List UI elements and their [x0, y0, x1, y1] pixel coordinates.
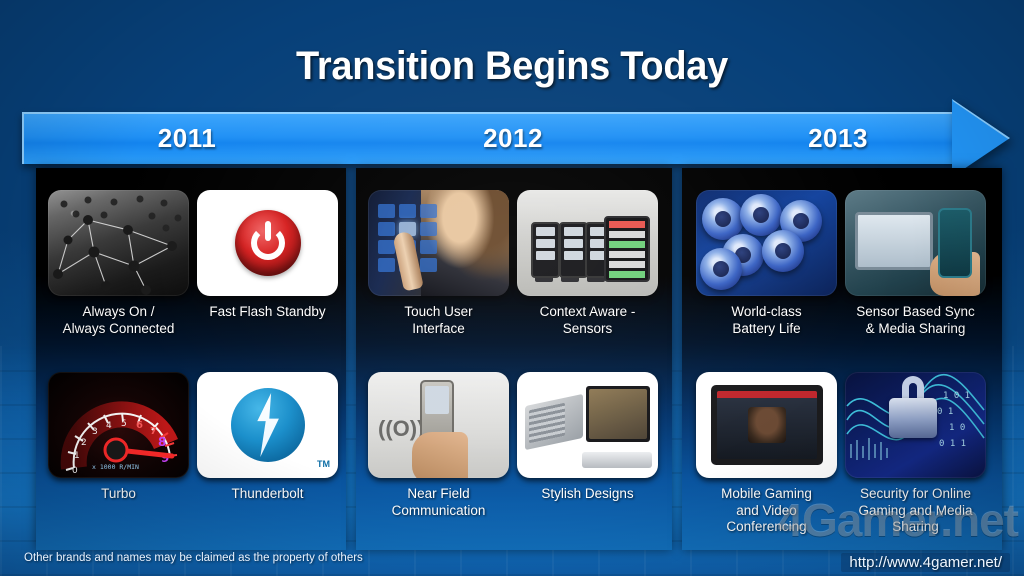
sensor-sync-icon	[845, 190, 986, 296]
network-mesh-icon	[48, 190, 189, 296]
feature-tile[interactable]: 012 345 67 89 x 1000 R/MIN Turbo	[48, 372, 189, 503]
laptop-tablet-icon	[517, 372, 658, 478]
laptop-graphic	[525, 394, 583, 450]
timeline-year-2013: 2013	[778, 123, 898, 154]
feature-caption: Always On /Always Connected	[48, 304, 189, 337]
feature-caption: Fast Flash Standby	[197, 304, 338, 321]
feature-tile[interactable]: Sensor Based Sync& Media Sharing	[845, 190, 986, 337]
svg-text:3: 3	[92, 427, 98, 437]
svg-text:0 1 1: 0 1 1	[939, 439, 966, 449]
thunderbolt-logo-icon: TM	[197, 372, 338, 478]
svg-text:6: 6	[136, 420, 143, 431]
svg-text:4: 4	[106, 421, 112, 431]
feature-caption: Context Aware -Sensors	[517, 304, 658, 337]
battery-cells-icon	[696, 190, 837, 296]
feature-tile[interactable]: Always On /Always Connected	[48, 190, 189, 337]
feature-tile[interactable]: Mobile Gamingand VideoConferencing	[696, 372, 837, 536]
svg-text:5: 5	[121, 419, 127, 429]
feature-caption: Mobile Gamingand VideoConferencing	[696, 486, 837, 536]
feature-tile[interactable]: World-classBattery Life	[696, 190, 837, 337]
padlock-icon: 1 0 10 1 1 00 1 1	[845, 372, 986, 478]
feature-tile[interactable]: TM Thunderbolt	[197, 372, 338, 503]
power-button-icon	[197, 190, 338, 296]
tablet-graphic	[711, 385, 823, 465]
video-conference-icon	[696, 372, 837, 478]
svg-text:0 1: 0 1	[937, 407, 953, 417]
tablet-graphic	[604, 216, 650, 282]
legal-footer-note: Other brands and names may be claimed as…	[24, 552, 363, 564]
tablet-graphic	[586, 386, 650, 442]
svg-text:2: 2	[81, 438, 87, 448]
feature-tile[interactable]: ((O)) Near FieldCommunication	[368, 372, 509, 519]
timeline-arrow-head-icon	[952, 99, 1010, 177]
touchscreen-icon	[368, 190, 509, 296]
timeline-year-2012: 2012	[453, 123, 573, 154]
thunderbolt-circle	[231, 388, 305, 462]
network-mesh-graphic	[48, 190, 189, 296]
padlock-body	[889, 398, 937, 438]
nfc-phone-icon: ((O))	[368, 372, 509, 478]
svg-text:0: 0	[72, 466, 78, 476]
feature-caption: Stylish Designs	[517, 486, 658, 503]
svg-text:1: 1	[74, 451, 80, 461]
feature-caption: Thunderbolt	[197, 486, 338, 503]
power-glyph	[235, 210, 301, 276]
trademark-mark: TM	[317, 459, 330, 469]
svg-text:1 0 1: 1 0 1	[943, 391, 970, 401]
bolt-glyph	[253, 393, 283, 457]
svg-text:1 0: 1 0	[949, 423, 965, 433]
feature-caption: Sensor Based Sync& Media Sharing	[845, 304, 986, 337]
timeline-year-2011: 2011	[127, 123, 247, 154]
column-panel-2011: Always On /Always Connected Fast Flash S…	[36, 168, 346, 550]
tachometer-graphic: 012 345 67 89 x 1000 R/MIN	[48, 372, 189, 478]
feature-tile[interactable]: Fast Flash Standby	[197, 190, 338, 321]
feature-tile[interactable]: Stylish Designs	[517, 372, 658, 503]
feature-tile[interactable]: Touch UserInterface	[368, 190, 509, 337]
page-title: Transition Begins Today	[26, 44, 999, 89]
column-panel-2013: World-classBattery Life Sensor Based Syn…	[682, 168, 1002, 550]
slide-canvas: Transition Begins Today 2011 2012 2013	[0, 0, 1024, 576]
kiosk-screen-graphic	[855, 212, 933, 270]
feature-tile[interactable]: Context Aware -Sensors	[517, 190, 658, 337]
hand-graphic	[412, 432, 468, 478]
feature-caption: Touch UserInterface	[368, 304, 509, 337]
column-panel-2012: Touch UserInterface Context Aware -Senso…	[356, 168, 672, 550]
feature-caption: World-classBattery Life	[696, 304, 837, 337]
tachometer-icon: 012 345 67 89 x 1000 R/MIN	[48, 372, 189, 478]
gauge-unit-label: x 1000 R/MIN	[92, 463, 139, 471]
svg-text:8: 8	[158, 435, 166, 449]
watermark-url: http://www.4gamer.net/	[841, 553, 1010, 572]
context-devices-icon	[517, 190, 658, 296]
feature-tile[interactable]: 1 0 10 1 1 00 1 1 Security for OnlineGam…	[845, 372, 986, 536]
handheld-device-graphic	[938, 208, 972, 278]
svg-text:7: 7	[150, 426, 157, 437]
feature-caption: Turbo	[48, 486, 189, 503]
feature-caption: Near FieldCommunication	[368, 486, 509, 519]
tablet-stand-graphic	[582, 452, 652, 468]
feature-caption: Security for OnlineGaming and MediaShari…	[845, 486, 986, 536]
